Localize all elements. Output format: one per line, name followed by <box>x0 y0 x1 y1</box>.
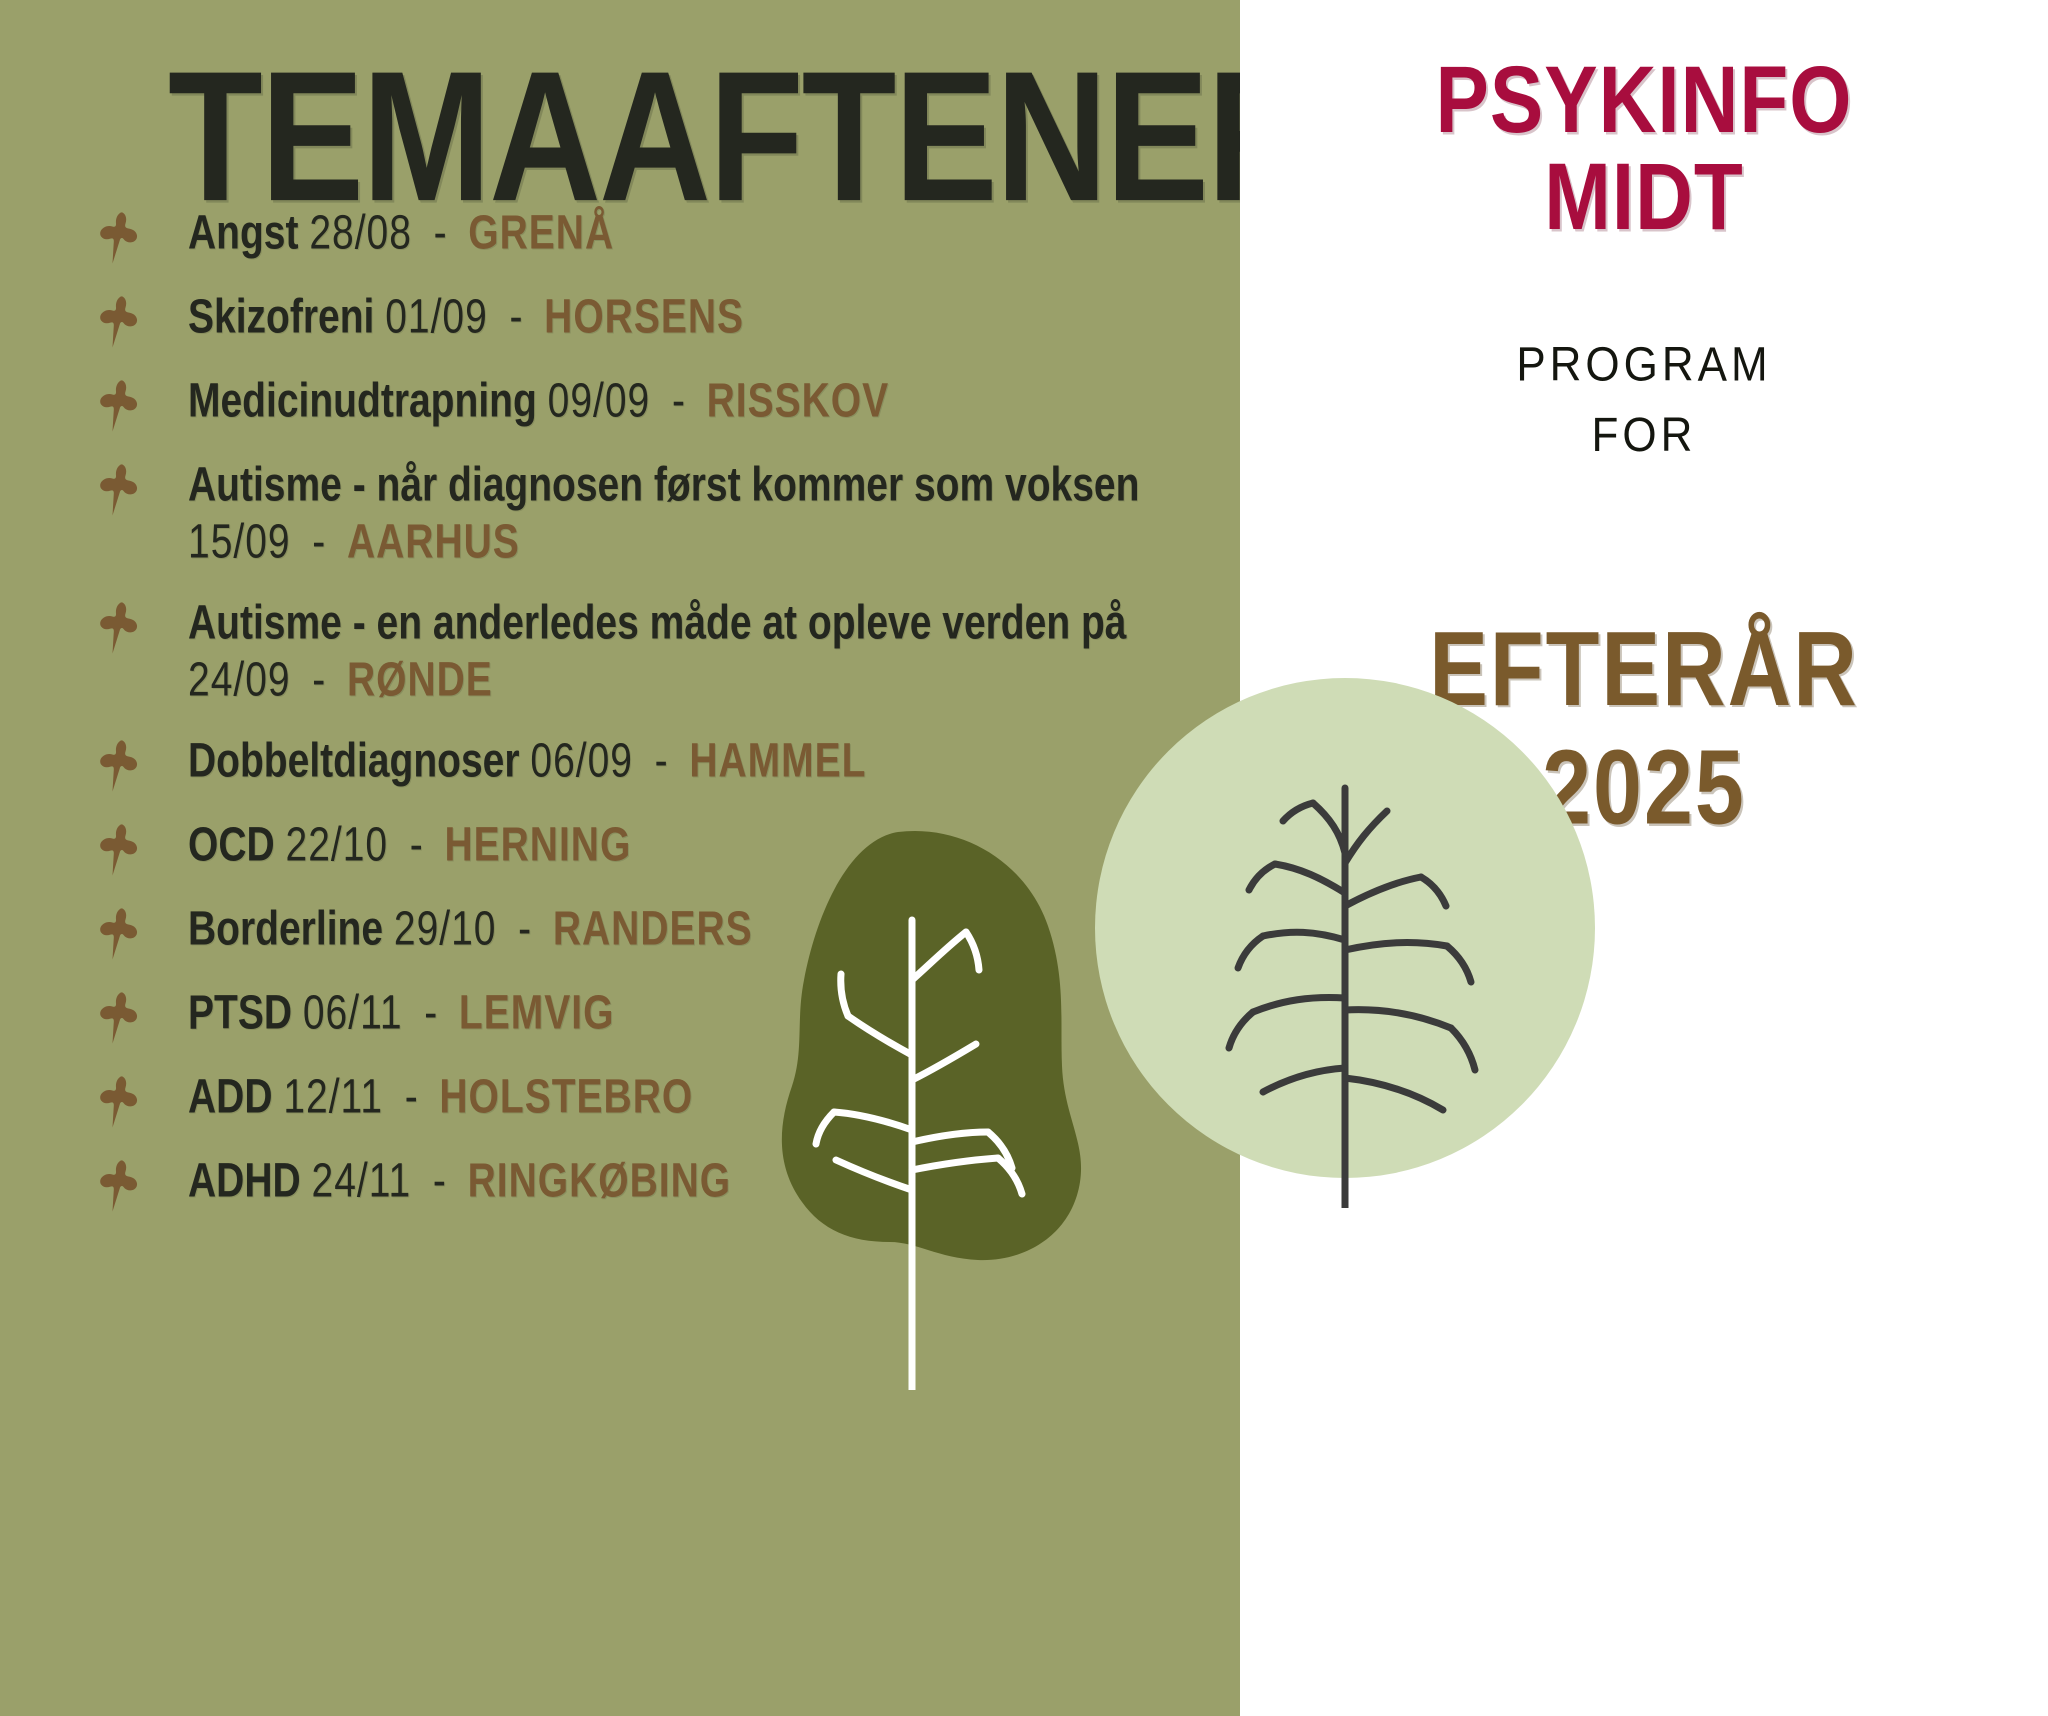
event-separator: - <box>655 734 668 787</box>
event-date: 06/11 <box>303 986 403 1039</box>
event-text: Borderline 29/10 - RANDERS <box>188 901 753 958</box>
pushpin-icon <box>96 991 140 1045</box>
event-separator: - <box>518 902 531 955</box>
event-row[interactable]: Autisme - en anderledes måde at opleve v… <box>0 595 1240 687</box>
event-text: Autisme - en anderledes måde at opleve v… <box>188 595 1127 709</box>
event-row[interactable]: Dobbeltdiagnoser 06/09 - HAMMEL <box>0 733 1240 783</box>
event-separator: - <box>672 374 685 427</box>
event-location: GRENÅ <box>468 206 614 259</box>
event-date: 12/11 <box>283 1070 383 1123</box>
event-date: 09/09 <box>548 374 651 427</box>
event-text: Dobbeltdiagnoser 06/09 - HAMMEL <box>188 733 866 790</box>
event-date: 06/09 <box>530 734 633 787</box>
event-separator: - <box>312 515 325 568</box>
pushpin-icon <box>96 211 140 265</box>
event-topic: Autisme - en anderledes måde at opleve v… <box>188 596 1127 649</box>
pushpin-icon <box>96 1159 140 1213</box>
event-text: Medicinudtrapning 09/09 - RISSKOV <box>188 373 889 430</box>
event-separator: - <box>510 290 523 343</box>
event-separator: - <box>405 1070 418 1123</box>
event-date: 01/09 <box>385 290 488 343</box>
event-topic: Borderline <box>188 902 383 955</box>
season-line-2: 2025 <box>1240 728 2048 846</box>
pushpin-icon <box>96 601 140 655</box>
program-subtitle: PROGRAM FOR <box>1240 330 2048 470</box>
page-title: TEMAAFTENER <box>168 44 1240 229</box>
brand-line-1: PSYKINFO <box>1436 47 1853 152</box>
event-topic: Angst <box>188 206 299 259</box>
event-text: PTSD 06/11 - LEMVIG <box>188 985 614 1042</box>
event-topic: PTSD <box>188 986 292 1039</box>
event-date: 24/11 <box>312 1154 412 1207</box>
event-topic: OCD <box>188 818 275 871</box>
event-topic: Dobbeltdiagnoser <box>188 734 520 787</box>
event-topic: ADHD <box>188 1154 301 1207</box>
event-topic: Medicinudtrapning <box>188 374 537 427</box>
event-date: 15/09 <box>188 515 291 568</box>
event-text: ADHD 24/11 - RINGKØBING <box>188 1153 731 1210</box>
pushpin-icon <box>96 295 140 349</box>
event-location: RINGKØBING <box>468 1154 732 1207</box>
event-location: RØNDE <box>347 653 493 706</box>
event-row[interactable]: Angst 28/08 - GRENÅ <box>0 205 1240 255</box>
event-location: HORSENS <box>544 290 744 343</box>
event-row[interactable]: PTSD 06/11 - LEMVIG <box>0 985 1240 1035</box>
event-topic: Autisme - når diagnosen først kommer som… <box>188 458 1139 511</box>
event-location: HERNING <box>444 818 631 871</box>
event-text: Skizofreni 01/09 - HORSENS <box>188 289 744 346</box>
event-location: LEMVIG <box>459 986 615 1039</box>
event-separator: - <box>433 1154 446 1207</box>
event-topic: ADD <box>188 1070 273 1123</box>
event-separator: - <box>424 986 437 1039</box>
event-row[interactable]: Medicinudtrapning 09/09 - RISSKOV <box>0 373 1240 423</box>
event-row[interactable]: ADHD 24/11 - RINGKØBING <box>0 1153 1240 1203</box>
event-text: Angst 28/08 - GRENÅ <box>188 205 614 262</box>
event-separator: - <box>312 653 325 706</box>
event-text: ADD 12/11 - HOLSTEBRO <box>188 1069 693 1126</box>
season-line-1: EFTERÅR <box>1429 609 1859 728</box>
event-topic: Skizofreni <box>188 290 374 343</box>
pushpin-icon <box>96 379 140 433</box>
event-list: Angst 28/08 - GRENÅSkizofreni 01/09 - HO… <box>0 205 1240 1237</box>
event-date: 22/10 <box>286 818 389 871</box>
event-location: AARHUS <box>347 515 520 568</box>
event-location: HAMMEL <box>689 734 866 787</box>
event-date: 28/08 <box>309 206 412 259</box>
pushpin-icon <box>96 823 140 877</box>
pushpin-icon <box>96 739 140 793</box>
event-row[interactable]: OCD 22/10 - HERNING <box>0 817 1240 867</box>
program-line-1: PROGRAM <box>1240 330 2048 400</box>
event-location: RISSKOV <box>707 374 890 427</box>
brand-line-2: MIDT <box>1240 148 2048 244</box>
event-date: 29/10 <box>394 902 497 955</box>
event-separator: - <box>434 206 447 259</box>
event-location: RANDERS <box>553 902 753 955</box>
event-row[interactable]: Skizofreni 01/09 - HORSENS <box>0 289 1240 339</box>
event-location: HOLSTEBRO <box>439 1070 693 1123</box>
event-text: Autisme - når diagnosen først kommer som… <box>188 457 1139 571</box>
pushpin-icon <box>96 463 140 517</box>
program-line-2: FOR <box>1240 400 2048 470</box>
event-row[interactable]: ADD 12/11 - HOLSTEBRO <box>0 1069 1240 1119</box>
pushpin-icon <box>96 907 140 961</box>
event-separator: - <box>410 818 423 871</box>
brand-title: PSYKINFO MIDT <box>1240 52 2048 245</box>
right-panel: PSYKINFO MIDT PROGRAM FOR EFTERÅR 2025 <box>1240 0 2048 1716</box>
left-panel: TEMAAFTENER Angst 28/08 - GRENÅSkizofren… <box>0 0 1240 1716</box>
season-label: EFTERÅR 2025 <box>1240 610 2048 847</box>
event-row[interactable]: Autisme - når diagnosen først kommer som… <box>0 457 1240 549</box>
pushpin-icon <box>96 1075 140 1129</box>
event-date: 24/09 <box>188 653 291 706</box>
event-text: OCD 22/10 - HERNING <box>188 817 631 874</box>
event-row[interactable]: Borderline 29/10 - RANDERS <box>0 901 1240 951</box>
poster: TEMAAFTENER Angst 28/08 - GRENÅSkizofren… <box>0 0 2048 1716</box>
